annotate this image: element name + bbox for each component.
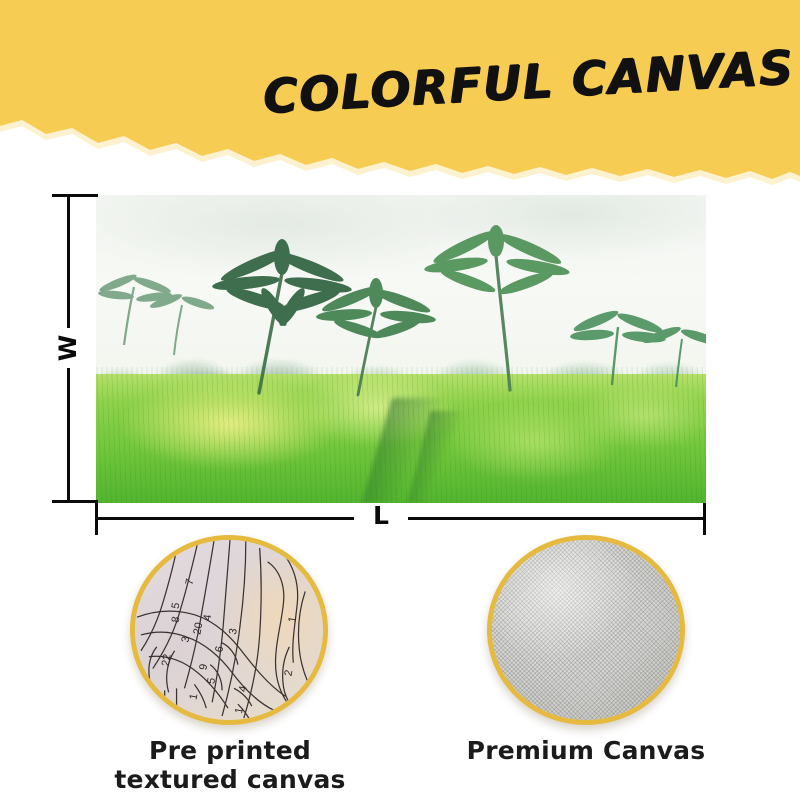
svg-text:9: 9	[197, 663, 210, 671]
palm-tree-far-left	[98, 272, 216, 355]
svg-text:3: 3	[180, 635, 193, 643]
svg-text:5: 5	[170, 602, 183, 610]
swatch-pre-printed-canvas: 7 5 8 4 20 3 3 6 22 9 5 1 4 1 2 1	[130, 535, 328, 725]
caption-pre-printed-canvas: Pre printed textured canvas	[99, 736, 361, 794]
pre-printed-surface: 7 5 8 4 20 3 3 6 22 9 5 1 4 1 2 1	[135, 540, 323, 720]
header-banner: COLORFUL CANVAS	[0, 0, 800, 200]
paint-number-labels: 7 5 8 4 20 3 3 6 22 9 5 1 4 1 2 1	[160, 578, 300, 715]
length-dimension-label: L	[354, 501, 408, 530]
palm-tree-far-right	[570, 307, 706, 387]
width-dimension-label: W	[50, 328, 86, 368]
caption-premium-canvas: Premium Canvas	[455, 736, 717, 765]
svg-text:22: 22	[160, 653, 174, 667]
caption-line-2: textured canvas	[99, 765, 361, 794]
svg-text:3: 3	[227, 627, 240, 635]
canvas-sheen	[492, 540, 680, 720]
palm-trees-layer	[96, 195, 706, 503]
svg-text:4: 4	[201, 614, 214, 622]
length-tick-left	[95, 503, 98, 535]
svg-text:6: 6	[213, 645, 226, 653]
caption-line-1: Premium Canvas	[455, 736, 717, 765]
watercolor-landscape	[96, 195, 706, 503]
canvas-artwork	[96, 195, 706, 503]
palm-tree-right-tall	[423, 225, 570, 390]
width-tick-bottom	[52, 500, 98, 503]
paint-by-numbers-outlines: 7 5 8 4 20 3 3 6 22 9 5 1 4 1 2 1	[135, 540, 323, 720]
product-infographic: COLORFUL CANVAS	[0, 0, 800, 794]
svg-text:2: 2	[282, 669, 295, 677]
svg-text:7: 7	[184, 578, 197, 586]
premium-canvas-surface	[492, 540, 680, 720]
length-tick-right	[703, 503, 706, 535]
svg-text:1: 1	[233, 707, 246, 715]
svg-text:4: 4	[237, 685, 250, 693]
caption-line-1: Pre printed	[99, 736, 361, 765]
svg-text:1: 1	[286, 616, 299, 624]
svg-text:20: 20	[191, 621, 205, 635]
swatch-premium-canvas	[487, 535, 685, 725]
length-dimension-line-left	[96, 517, 354, 520]
svg-text:8: 8	[170, 616, 183, 624]
svg-text:1: 1	[187, 693, 200, 701]
width-tick-top	[52, 194, 98, 197]
length-dimension-line-right	[408, 517, 706, 520]
